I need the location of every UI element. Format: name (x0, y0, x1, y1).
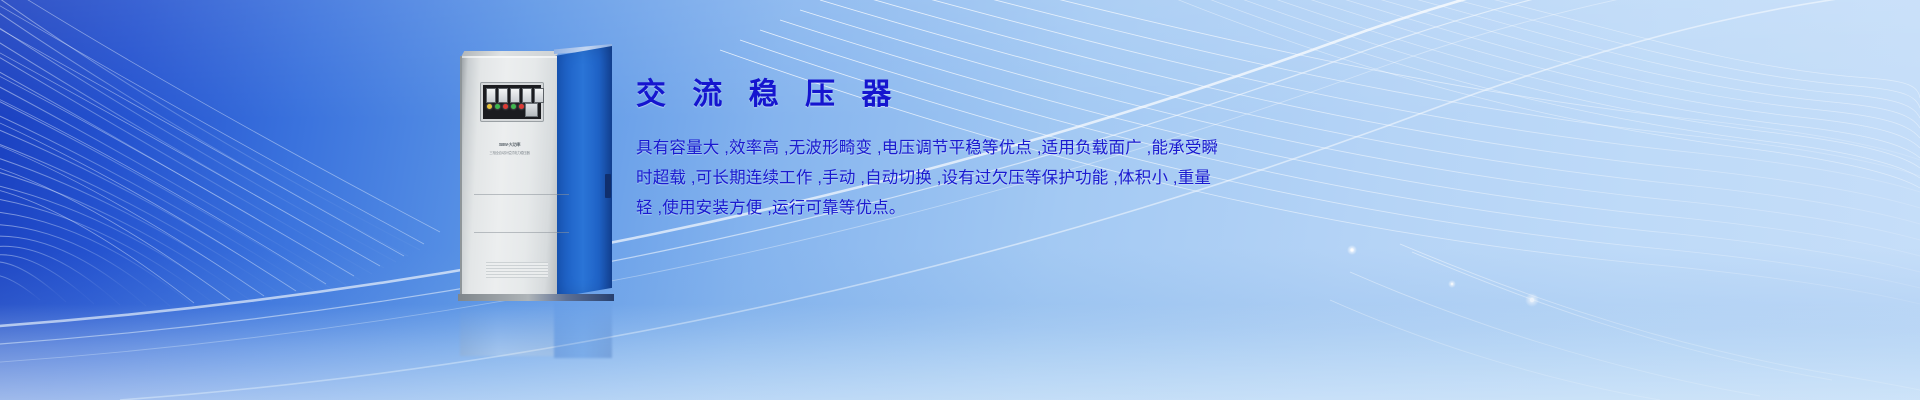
banner-description: 具有容量大 ,效率高 ,无波形畸变 ,电压调节平稳等优点 ,适用负载面广 ,能承… (636, 133, 1176, 223)
cabinet-door-handle (605, 174, 611, 198)
indicator-lamp-red (503, 104, 508, 109)
indicator-lamp-red (519, 104, 524, 109)
product-banner: SBW-大功率 三相全自动补偿式电力稳压器 交 流 稳 压 器 具有容量大 ,效… (0, 0, 1920, 400)
banner-title: 交 流 稳 压 器 (636, 78, 1176, 111)
product-image-ac-voltage-stabilizer: SBW-大功率 三相全自动补偿式电力稳压器 (448, 44, 626, 300)
cabinet-model-label: SBW-大功率 (462, 142, 557, 147)
indicator-lamp-yellow (487, 104, 492, 109)
analog-meter (486, 88, 496, 103)
cabinet-ventilation-grille (486, 262, 548, 278)
background-floor-glow (0, 304, 1920, 400)
cabinet-blue-side-panel (554, 46, 612, 298)
panel-switch-box (525, 103, 538, 117)
cabinet-panel-seam (474, 232, 569, 233)
analog-meter (522, 88, 532, 103)
cabinet-spec-label: 三相全自动补偿式电力稳压器 (462, 151, 557, 155)
analog-meter (498, 88, 508, 103)
product-reflection (448, 300, 626, 362)
control-panel (481, 83, 543, 121)
indicator-lamp-green (495, 104, 500, 109)
cabinet-front-door: SBW-大功率 三相全自动补偿式电力稳压器 (460, 56, 557, 296)
cabinet-base-plinth (458, 294, 614, 301)
banner-copy-block: 交 流 稳 压 器 具有容量大 ,效率高 ,无波形畸变 ,电压调节平稳等优点 ,… (636, 78, 1176, 223)
analog-meter (510, 88, 520, 103)
description-line-3: 轻 ,使用安装方便 ,运行可靠等优点。 (636, 193, 1176, 223)
cabinet-panel-seam (474, 194, 569, 195)
indicator-lamp-green (511, 104, 516, 109)
description-line-2: 时超载 ,可长期连续工作 ,手动 ,自动切换 ,设有过欠压等保护功能 ,体积小 … (636, 163, 1176, 193)
analog-meter (534, 88, 544, 103)
meter-group (486, 88, 544, 103)
description-line-1: 具有容量大 ,效率高 ,无波形畸变 ,电压调节平稳等优点 ,适用负载面广 ,能承… (636, 133, 1176, 163)
